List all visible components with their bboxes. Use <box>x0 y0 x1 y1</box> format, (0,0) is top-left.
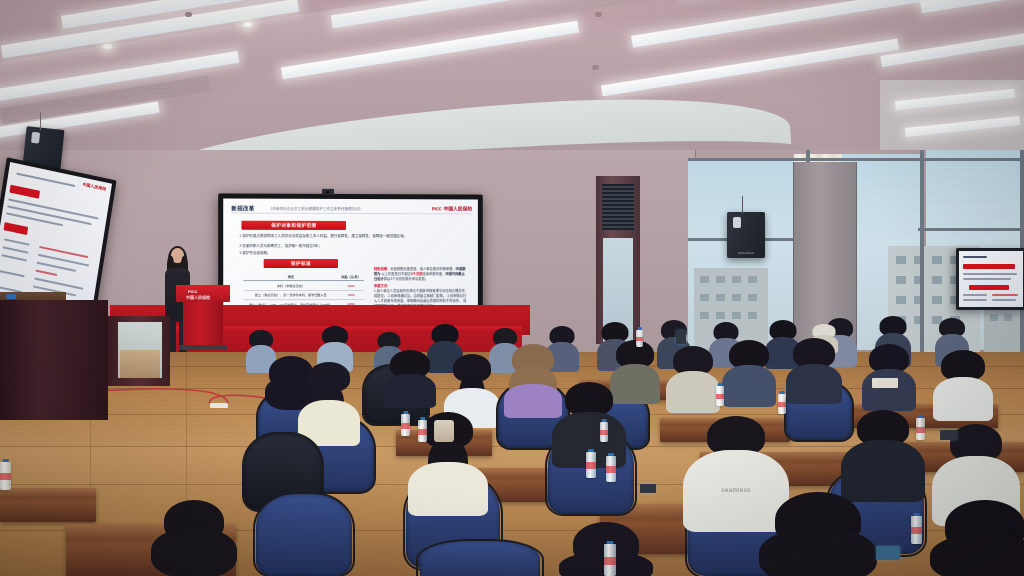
water-bottle[interactable] <box>600 422 608 442</box>
audience-person <box>866 344 912 402</box>
smartphone[interactable] <box>640 484 656 493</box>
slide-divider <box>231 213 472 215</box>
slide-subtitle: 《作废老旧企业员工职业健康防护工作主体责任管理办法》 <box>269 206 363 211</box>
water-bottle[interactable] <box>911 516 922 544</box>
note-highlight: 3个月的 <box>411 272 423 276</box>
water-bottle[interactable] <box>916 418 925 440</box>
note-line3: 连续申报年度， <box>423 272 446 276</box>
podium: PICC 中国人民保险 <box>176 285 230 353</box>
audience-person <box>938 350 988 412</box>
table-row: 硕士（重点高校）、双一流学科本科、留学归国人员 1500 <box>243 291 364 301</box>
smartphone[interactable] <box>876 546 900 560</box>
picc-logo: PICC 中国人民保险 <box>432 205 472 212</box>
note-text: 补贴按照月度发放，用人单位按月申报审核， <box>390 267 455 271</box>
audience-person <box>670 346 716 404</box>
audience-person <box>506 344 560 406</box>
speaker-mount-rod-left <box>40 112 41 130</box>
smartphone[interactable] <box>676 330 686 344</box>
water-bottle[interactable] <box>636 330 643 347</box>
wall-speaker-right: SPEAKER <box>727 212 765 258</box>
water-bottle[interactable] <box>716 386 724 406</box>
podium-logo-mark: PICC <box>188 289 198 294</box>
audience-person <box>846 410 920 500</box>
tshirt-text: seamless <box>721 488 750 494</box>
note-line2: 以上的发放日不超过 <box>381 272 410 276</box>
water-bottle[interactable] <box>586 452 596 478</box>
podium-base <box>179 345 227 350</box>
camera-icon <box>322 189 334 195</box>
podium-logo-text: 中国人民保险 <box>186 295 210 301</box>
slide-body-line-2: 2.在册的职人员与新聘员工，保护期一般不超过3年； <box>239 244 461 249</box>
ventilation-louver <box>602 184 634 230</box>
thermos-cup[interactable] <box>434 420 454 442</box>
water-bottle[interactable] <box>604 544 616 576</box>
water-bottle[interactable] <box>0 462 11 490</box>
note-line4: 算后3个月内的按月申请发放。 <box>384 277 428 281</box>
notebook[interactable] <box>872 378 898 388</box>
right-monitor[interactable] <box>956 248 1024 310</box>
slide-right-notes: 特别说明：补贴按照月度发放，用人单位按月申报审核，申报期限为 以上的发放日不超过… <box>374 267 468 309</box>
control-desk <box>0 300 108 420</box>
speaker-mount-rod <box>742 196 743 214</box>
note-label: 特别说明： <box>374 267 390 271</box>
conference-hall-photo: SPEAKER 新规改革 《作废老旧企业员工职业健康防护工作主体责任管理办法》 … <box>0 0 1024 576</box>
table-col-0: 学历 <box>243 274 338 279</box>
audience-person <box>448 354 496 416</box>
table-header-row: 学历 补贴（元/月） <box>243 272 364 281</box>
table-col-1: 补贴（元/月） <box>338 274 364 279</box>
audience-person <box>930 500 1024 576</box>
table-row: 本科（非重点高校） 1000 <box>243 281 364 291</box>
audience-person <box>790 338 838 394</box>
water-bottle[interactable] <box>401 414 410 436</box>
slide-section-header-1: 保护对象和保护范围 <box>241 221 346 230</box>
smartphone[interactable] <box>940 430 957 440</box>
water-bottle[interactable] <box>778 394 786 414</box>
audience-person-glasses <box>758 492 878 576</box>
slide-section-header-2: 保护标准 <box>264 259 338 268</box>
water-bottle[interactable] <box>418 420 427 442</box>
audience-chair[interactable] <box>420 540 540 576</box>
desk-object <box>6 294 16 299</box>
slide-body-line-3: 3.保护符合适用期。 <box>239 251 461 256</box>
audience-person <box>388 350 432 398</box>
slide-title: 新规改革 <box>231 205 254 213</box>
audience-person <box>300 362 358 432</box>
niche-box <box>120 350 160 378</box>
right-monitor-screen <box>959 251 1023 307</box>
method-line-2: 2.经审核通过后，由同级主管部门复核； <box>388 294 446 298</box>
audience-chair[interactable] <box>256 494 352 576</box>
slide-body-line-1: 1.保护的重点是保障用工人员的合法权益及职工本人利益，提升保障性，建立保障性，保… <box>239 234 461 240</box>
podium-body <box>183 301 223 347</box>
audience-person <box>152 500 236 576</box>
audience-person <box>726 340 772 398</box>
picc-mark: PICC <box>432 206 442 211</box>
picc-chinese-name: 中国人民保险 <box>444 205 472 212</box>
audience-desk <box>0 488 96 522</box>
floor-cable <box>96 385 276 409</box>
left-monitor-logo: 中国人民保险 <box>82 182 106 193</box>
water-bottle[interactable] <box>606 456 616 482</box>
